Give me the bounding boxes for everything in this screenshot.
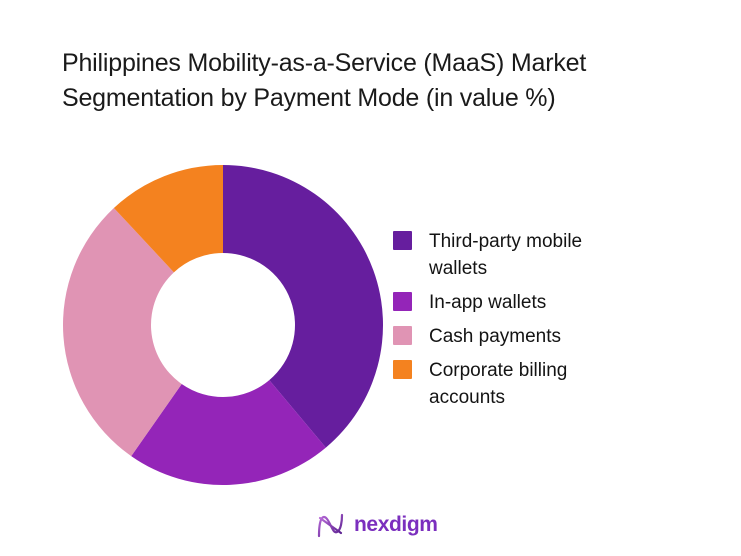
legend-item-cash-payments[interactable]: Cash payments bbox=[393, 323, 693, 350]
brand-logo: nexdigm bbox=[316, 512, 438, 538]
legend-swatch-icon bbox=[393, 231, 412, 250]
legend-item-label: Corporate billing accounts bbox=[429, 357, 644, 411]
nexdigm-wave-mark-icon bbox=[316, 512, 346, 538]
legend-item-in-app-wallets[interactable]: In-app wallets bbox=[393, 289, 693, 316]
legend-item-label: Cash payments bbox=[429, 323, 561, 350]
donut-slice-group bbox=[63, 165, 383, 485]
legend-item-label: Third-party mobile wallets bbox=[429, 228, 644, 282]
donut-chart-svg bbox=[63, 165, 383, 485]
chart-title: Philippines Mobility-as-a-Service (MaaS)… bbox=[62, 46, 672, 116]
donut-chart bbox=[63, 165, 383, 485]
legend-swatch-icon bbox=[393, 360, 412, 379]
legend-item-corporate-billing-accounts[interactable]: Corporate billing accounts bbox=[393, 357, 693, 411]
legend-item-label: In-app wallets bbox=[429, 289, 546, 316]
legend-item-third-party-mobile-wallets[interactable]: Third-party mobile wallets bbox=[393, 228, 693, 282]
chart-card: Philippines Mobility-as-a-Service (MaaS)… bbox=[0, 0, 741, 556]
chart-legend: Third-party mobile wallets In-app wallet… bbox=[393, 228, 693, 418]
legend-swatch-icon bbox=[393, 326, 412, 345]
brand-name: nexdigm bbox=[354, 512, 438, 538]
legend-swatch-icon bbox=[393, 292, 412, 311]
